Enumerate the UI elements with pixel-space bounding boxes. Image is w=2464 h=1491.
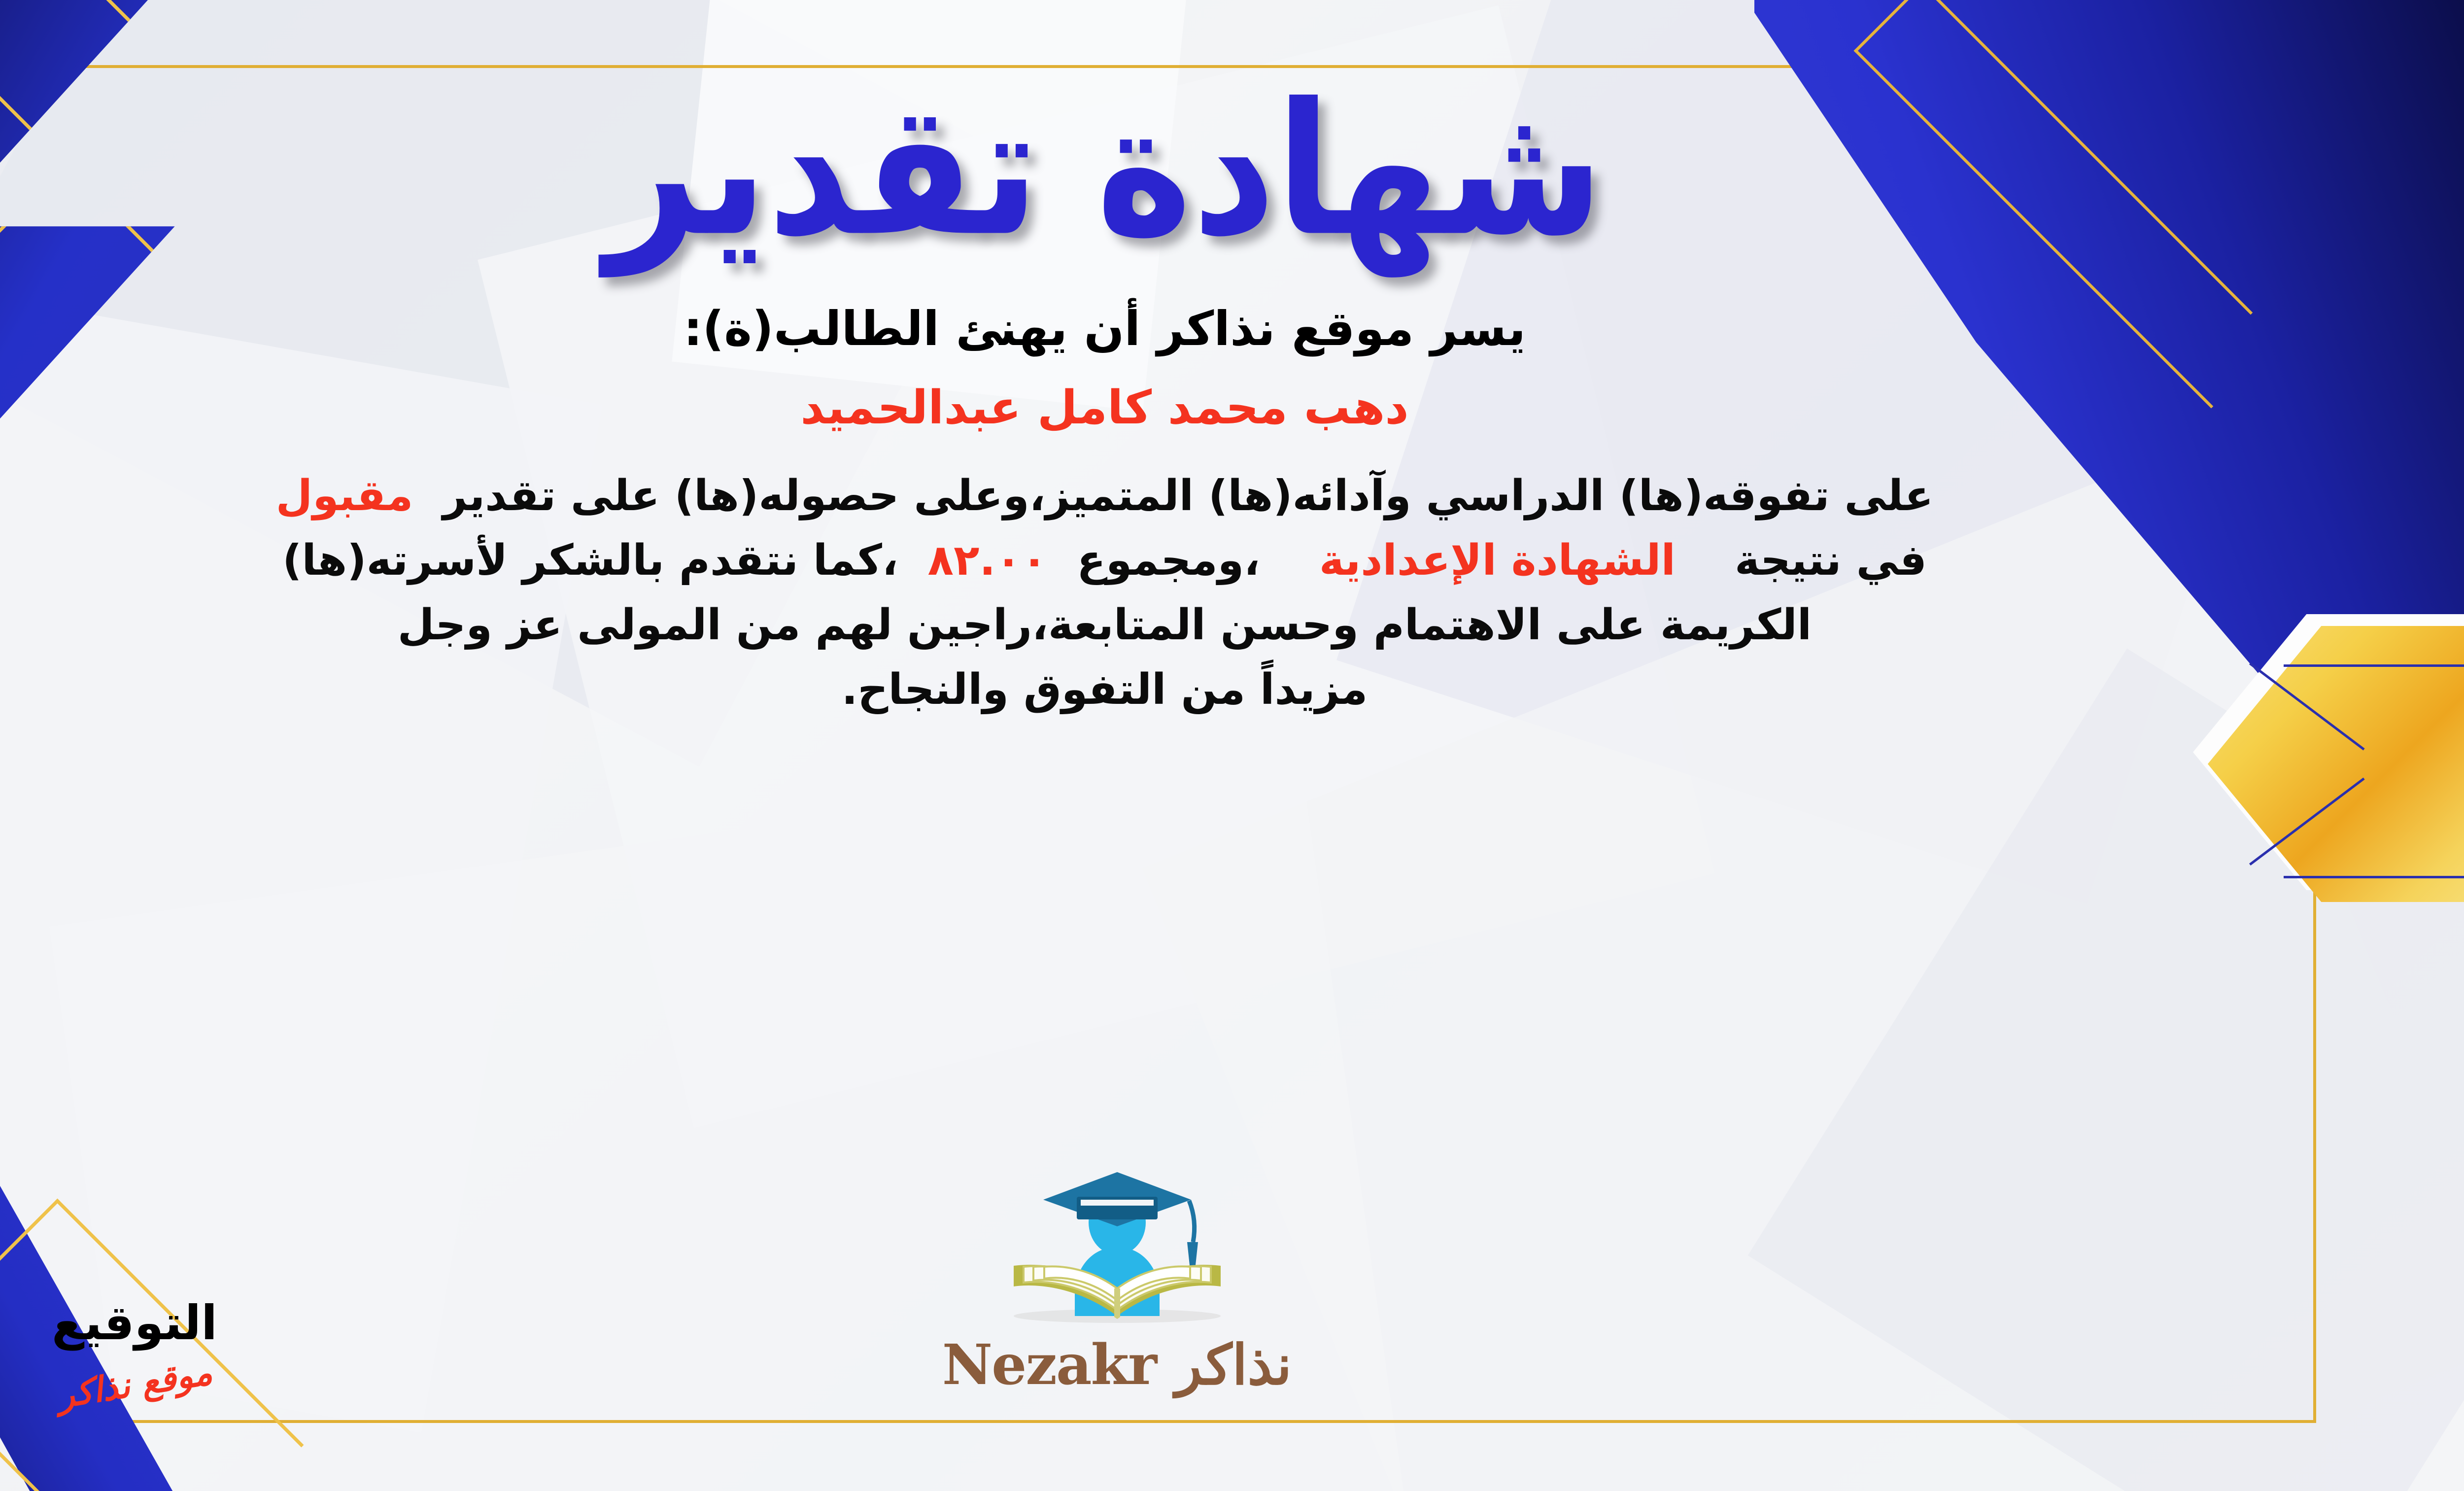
certificate-content: شهادة تقدير يسر موقع نذاكر أن يهنئ الطال… xyxy=(0,74,2301,1417)
body-line-1-text: على تفوقه(ها) الدراسي وآدائه(ها) المتميز… xyxy=(443,471,1933,520)
certificate-title: شهادة تقدير xyxy=(605,74,1604,266)
logo-wordmark: نذاكر Nezakr xyxy=(942,1333,1292,1397)
certificate-footer: نذاكر Nezakr التوقيع موقع نذاكر xyxy=(0,1168,2301,1404)
student-name: دهب محمد كامل عبدالحميد xyxy=(800,378,1408,438)
mortarboard-stripe xyxy=(1081,1200,1154,1206)
exam-name: الشهادة الإعدادية xyxy=(1319,536,1676,585)
logo-artwork xyxy=(959,1168,1275,1331)
total-score: ٨٢.٠٠ xyxy=(928,536,1048,585)
chevron-blue-top xyxy=(2284,664,2464,667)
body-line-2-mid: ،ومجموع xyxy=(1077,536,1260,585)
grade-value: مقبول xyxy=(276,471,413,520)
certificate-body-paragraph: على تفوقه(ها) الدراسي وآدائه(ها) المتميز… xyxy=(0,464,2301,722)
body-line-3: الكريمة على الاهتمام وحسن المتابعة،راجين… xyxy=(0,593,2301,658)
body-line-2-prefix: في نتيجة xyxy=(1735,536,1927,585)
book-spine xyxy=(1114,1288,1120,1319)
tassel-cord xyxy=(1189,1201,1195,1242)
chevron-blue-bottom xyxy=(2284,876,2464,878)
graduate-book-icon xyxy=(959,1168,1275,1331)
nezakr-logo: نذاكر Nezakr xyxy=(915,1168,1319,1397)
body-line-4: مزيداً من التفوق والنجاح. xyxy=(0,658,2301,722)
signature-block: التوقيع موقع نذاكر xyxy=(0,1295,317,1404)
body-line-1: على تفوقه(ها) الدراسي وآدائه(ها) المتميز… xyxy=(0,464,2301,528)
congratulation-line: يسر موقع نذاكر أن يهنئ الطالب(ة): xyxy=(684,298,1526,360)
signature-mark: موقع نذاكر xyxy=(54,1352,214,1416)
certificate-canvas: شهادة تقدير يسر موقع نذاكر أن يهنئ الطال… xyxy=(0,0,2464,1491)
body-line-2-suffix: ،كما نتقدم بالشكر لأسرته(ها) xyxy=(282,536,898,585)
signature-label: التوقيع xyxy=(52,1295,217,1351)
body-line-2: في نتيجةالشهادة الإعدادية،ومجموع٨٢.٠٠،كم… xyxy=(0,528,2301,593)
